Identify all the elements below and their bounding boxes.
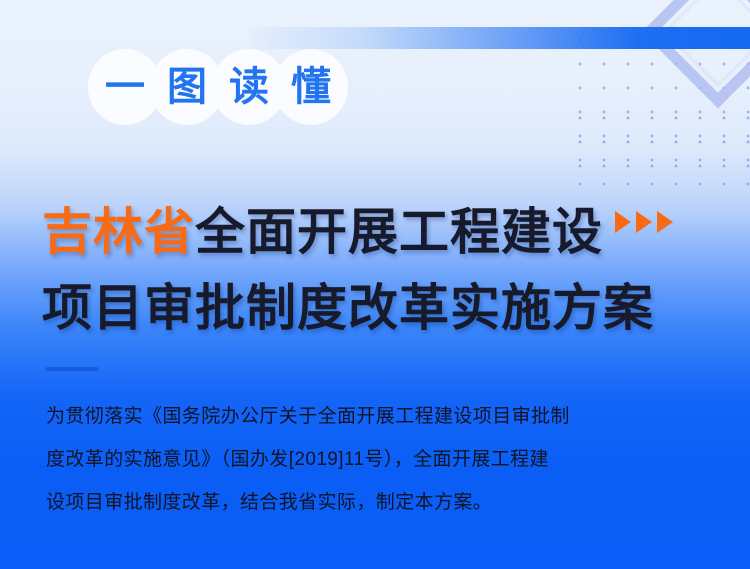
headline-block: 吉林省全面开展工程建设 项目审批制度改革实施方案 xyxy=(42,178,732,346)
triangle-right-icon-3 xyxy=(657,211,673,233)
badge-row: 一 图 读 懂 xyxy=(88,49,336,125)
body-line-1: 为贯彻落实《国务院办公厅关于全面开展工程建设项目审批制 xyxy=(46,395,706,438)
dot-grid-pattern-lower-icon xyxy=(566,104,750,188)
dot-grid-pattern-icon xyxy=(566,26,750,186)
badge-char-4: 懂 xyxy=(274,49,348,125)
section-divider xyxy=(46,367,98,371)
triangle-right-icon-1 xyxy=(615,211,631,233)
headline-accent-province: 吉林省 xyxy=(42,204,195,260)
badge-gradient-bar xyxy=(250,27,750,49)
infographic-poster: 一 图 读 懂 吉林省全面开展工程建设 项目审批制度改革实施方案 为贯彻落实《国… xyxy=(0,0,750,569)
headline-line-1: 吉林省全面开展工程建设 xyxy=(42,178,732,270)
headline-arrows xyxy=(615,178,673,254)
headline-line-2: 项目审批制度改革实施方案 xyxy=(42,270,732,346)
body-line-2: 度改革的实施意见》（国办发[2019]11号），全面开展工程建 xyxy=(46,438,706,481)
body-line-3: 设项目审批制度改革，结合我省实际，制定本方案。 xyxy=(46,481,706,524)
diamond-outline-icon xyxy=(642,0,750,108)
body-paragraph: 为贯彻落实《国务院办公厅关于全面开展工程建设项目审批制 度改革的实施意见》（国办… xyxy=(46,395,706,524)
triangle-right-icon-2 xyxy=(636,211,652,233)
headline-line-1-rest: 全面开展工程建设 xyxy=(195,204,603,260)
badge-characters: 一 图 读 懂 xyxy=(88,49,336,125)
